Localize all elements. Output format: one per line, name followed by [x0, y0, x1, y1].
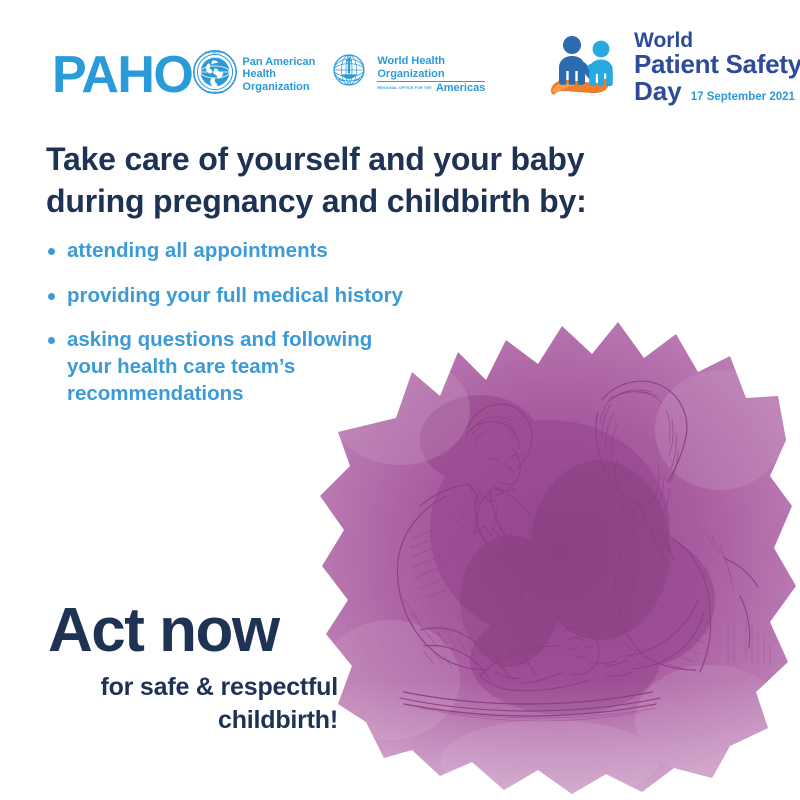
list-item: attending all appointments: [46, 238, 516, 265]
wpsd-line-world: World: [634, 30, 800, 51]
headline-line-2: during pregnancy and childbirth by:: [46, 181, 686, 223]
who-organization-text: World Health Organization REGIONAL OFFIC…: [377, 55, 485, 94]
pan-american-health-organization-text: Pan American Health Organization: [242, 56, 315, 93]
paho-globe-icon: PAN AMERICAN HEALTH ORG: [192, 49, 238, 100]
who-line-1: World Health: [377, 55, 485, 67]
header: PAHO: [0, 0, 800, 125]
watercolor-blob-background: [300, 300, 800, 800]
world-patient-safety-day-logo: World Patient Safety Day 17 September 20…: [548, 30, 800, 109]
who-region-label: Americas: [436, 83, 486, 94]
act-now-headline: Act now: [48, 600, 338, 662]
act-now-subtext: for safe & respectful childbirth!: [48, 671, 338, 738]
wpsd-day-and-date-row: Day 17 September 2021: [634, 78, 800, 105]
act-now-subline-1: for safe & respectful: [48, 671, 338, 704]
who-emblem-icon: [325, 48, 373, 101]
call-to-action: Act now for safe & respectful childbirth…: [48, 600, 338, 738]
who-line-2: Organization: [377, 68, 485, 80]
who-regional-office-label: REGIONAL OFFICE FOR THE: [377, 86, 431, 90]
svg-text:HEALTH ORG: HEALTH ORG: [207, 90, 224, 94]
two-people-in-hand-icon: [548, 32, 628, 109]
bullet-1-line-1: attending all appointments: [67, 238, 516, 265]
poster-canvas: PAHO: [0, 0, 800, 800]
paho-org-line-3: Organization: [242, 81, 315, 93]
act-now-subline-2: childbirth!: [48, 704, 338, 737]
wpsd-text-block: World Patient Safety Day 17 September 20…: [634, 30, 800, 104]
wpsd-line-day: Day: [634, 78, 682, 105]
wpsd-line-patient-safety: Patient Safety: [634, 51, 800, 78]
health-worker-and-mother-with-newborn-illustration: [300, 300, 800, 800]
paho-logo-lockup: PAHO: [52, 48, 495, 101]
headline-line-1: Take care of yourself and your baby: [46, 139, 686, 181]
paho-org-line-2: Health: [242, 68, 315, 80]
paho-org-line-1: Pan American: [242, 56, 315, 68]
page-title: Take care of yourself and your baby duri…: [46, 139, 686, 223]
paho-wordmark: PAHO: [52, 49, 192, 101]
wpsd-date: 17 September 2021: [691, 91, 795, 103]
svg-text:PAN AMERICAN: PAN AMERICAN: [205, 51, 225, 55]
who-regional-office-row: REGIONAL OFFICE FOR THE Americas: [377, 81, 485, 94]
